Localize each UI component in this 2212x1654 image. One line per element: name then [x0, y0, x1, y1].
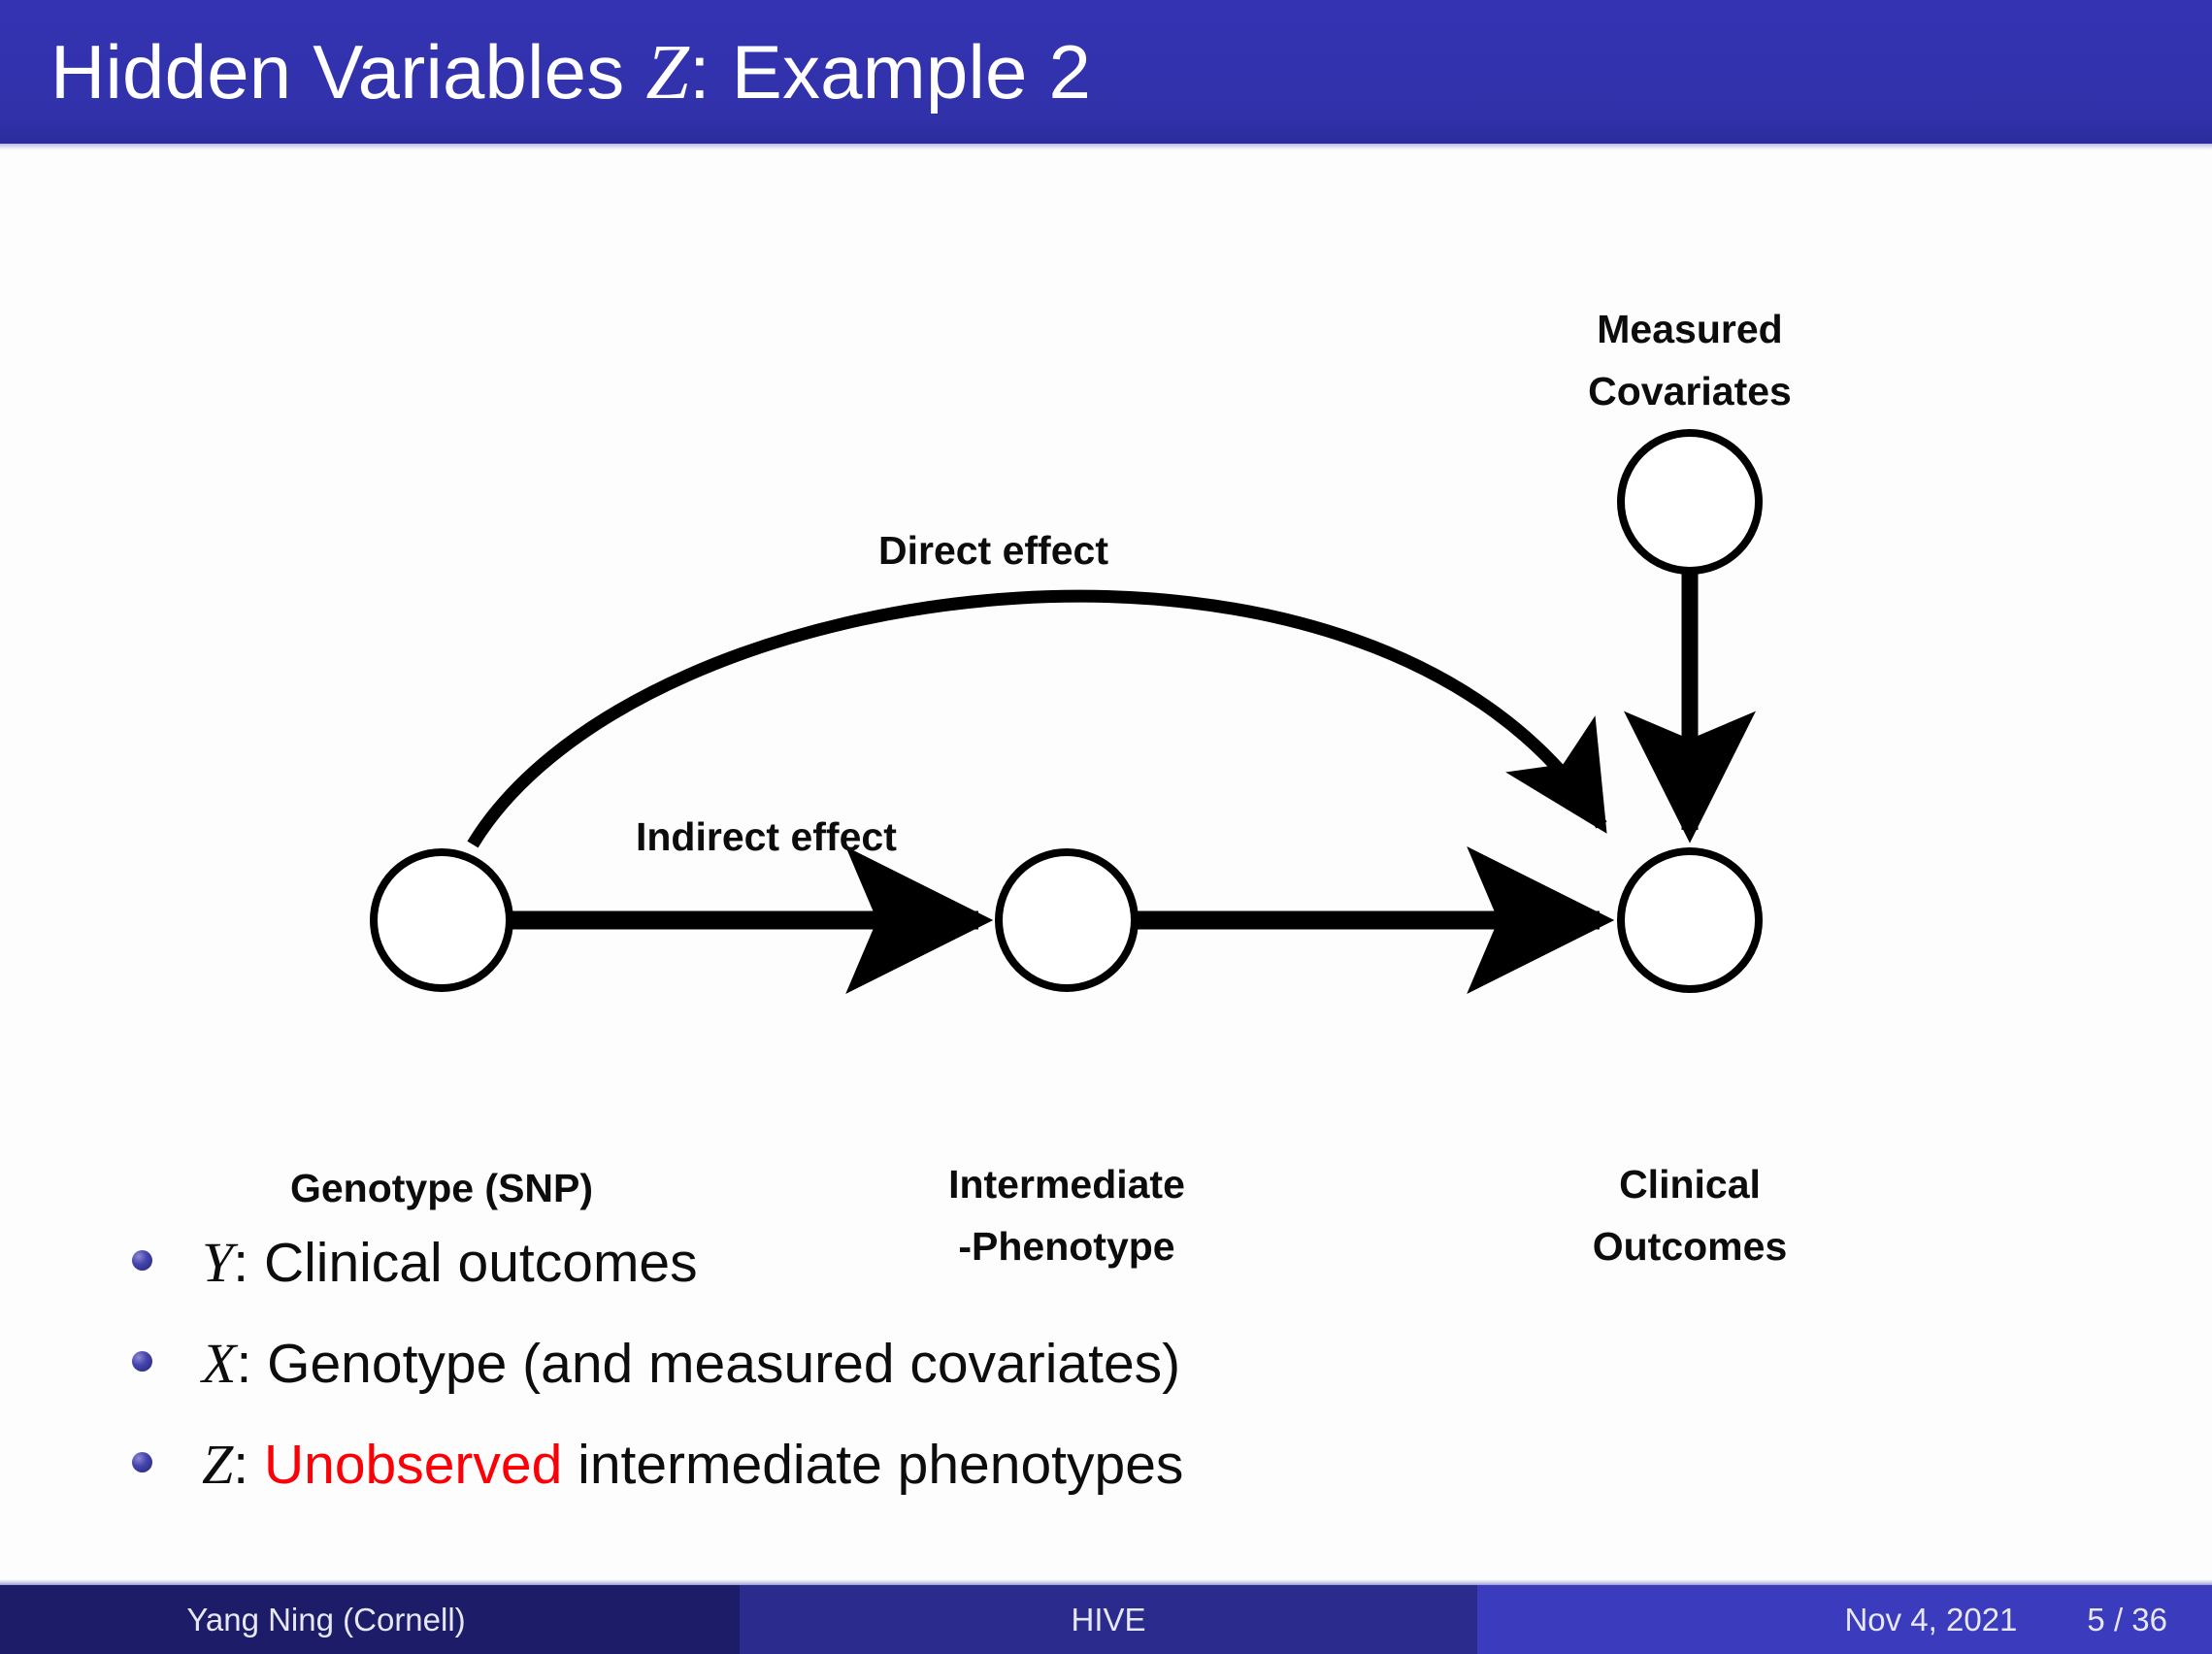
bullet-description-y: Clinical outcomes	[264, 1232, 698, 1294]
edge-label-indirect-effect: Indirect effect	[636, 813, 897, 860]
node-label-genotype: Genotype (SNP)	[248, 1157, 636, 1219]
bullet-description-x: Genotype (and measured covariates)	[267, 1333, 1180, 1395]
bullet-variable-y: Y	[202, 1231, 233, 1294]
footer-date-text: Nov 4, 2021	[1844, 1602, 2017, 1638]
causal-diagram: Direct effect Indirect effect Genotype (…	[0, 150, 2212, 1179]
footer-center-segment: HIVE	[740, 1585, 1477, 1654]
node-genotype	[374, 852, 510, 988]
footer-conference-text: HIVE	[1071, 1602, 1145, 1638]
node-label-intermediate-line1: Intermediate	[873, 1153, 1261, 1215]
bullet-separator-x: :	[236, 1333, 267, 1395]
bullet-text-z: Z: Unobserved intermediate phenotypes	[202, 1434, 1183, 1496]
bullet-dot-icon	[132, 1250, 152, 1271]
footer-page-number: 5 / 36	[2087, 1602, 2167, 1638]
bullet-item-y: Y: Clinical outcomes	[0, 1218, 2212, 1319]
bullet-variable-x: X	[202, 1332, 236, 1395]
footer-author-segment: Yang Ning (Cornell)	[0, 1585, 740, 1654]
bullet-separator-z: :	[233, 1434, 264, 1496]
bullet-text-y: Y: Clinical outcomes	[202, 1232, 698, 1294]
page-title-prefix: Hidden Variables	[50, 29, 645, 115]
bullet-list: Y: Clinical outcomes X: Genotype (and me…	[0, 1218, 2212, 1521]
bullet-item-z: Z: Unobserved intermediate phenotypes	[0, 1420, 2212, 1521]
bullet-description-z: intermediate phenotypes	[562, 1434, 1183, 1496]
node-clinical-outcomes	[1621, 851, 1759, 989]
bullet-dot-icon	[132, 1452, 152, 1472]
page-title-suffix: : Example 2	[689, 29, 1091, 115]
bullet-dot-icon	[132, 1351, 152, 1372]
footer-author-text: Yang Ning (Cornell)	[186, 1602, 465, 1638]
bullet-separator-y: :	[233, 1232, 264, 1294]
node-label-covariates-line2: Covariates	[1496, 360, 1884, 422]
page-title: Hidden Variables Z: Example 2	[50, 21, 1091, 123]
edge-direct-effect	[473, 596, 1601, 844]
node-label-covariates-line1: Measured	[1496, 298, 1884, 360]
bullet-text-x: X: Genotype (and measured covariates)	[202, 1333, 1180, 1395]
slide: Hidden Variables Z: Example 2	[0, 0, 2212, 1654]
bullet-variable-z: Z	[202, 1433, 233, 1496]
edge-label-direct-effect: Direct effect	[878, 527, 1108, 574]
node-intermediate-phenotype	[999, 852, 1135, 988]
node-label-clinical-line1: Clinical	[1496, 1153, 1884, 1215]
footer-right-segment: Nov 4, 20215 / 36	[1477, 1585, 2212, 1654]
footer-bar: Yang Ning (Cornell) HIVE Nov 4, 20215 / …	[0, 1585, 2212, 1654]
title-bar-underline	[0, 144, 2212, 150]
page-title-variable: Z	[645, 30, 689, 116]
bullet-item-x: X: Genotype (and measured covariates)	[0, 1319, 2212, 1420]
node-measured-covariates	[1621, 433, 1759, 571]
node-label-covariates: Measured Covariates	[1496, 298, 1884, 422]
bullet-highlight-unobserved: Unobserved	[264, 1434, 562, 1496]
